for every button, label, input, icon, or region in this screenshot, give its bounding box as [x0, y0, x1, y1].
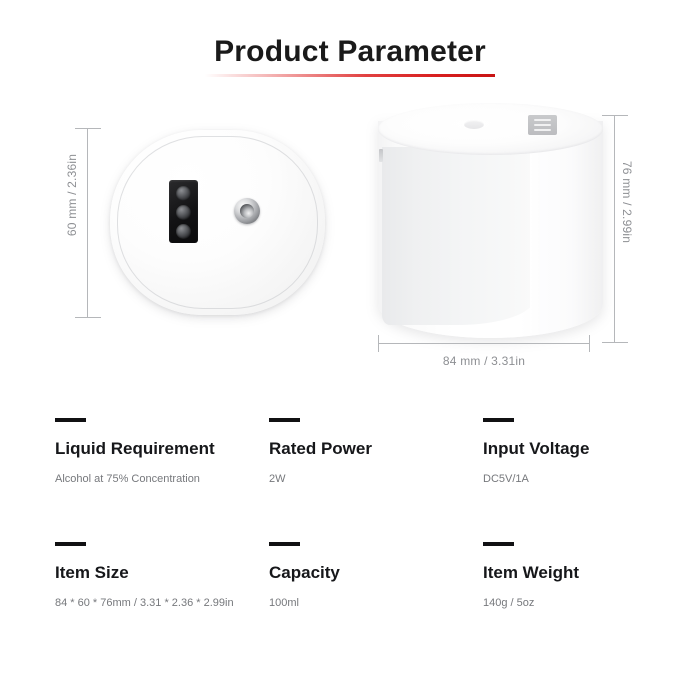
- dimension-label-depth: 60 mm / 2.36in: [65, 135, 79, 255]
- spec-title: Rated Power: [269, 438, 483, 459]
- dimension-cap-left: [378, 335, 379, 352]
- spec-item-item-weight: Item Weight 140g / 5oz: [483, 542, 697, 611]
- nozzle-port-inner: [240, 204, 254, 218]
- product-perspective-view-group: 76 mm / 2.99in 84 mm / 3.31in: [370, 95, 660, 385]
- spec-value: DC5V/1A: [483, 472, 697, 487]
- lid-button: [464, 120, 484, 129]
- usb-port-line: [534, 124, 551, 126]
- dimension-cap-bottom: [602, 342, 628, 343]
- spec-value: 100ml: [269, 596, 483, 611]
- spec-value: 2W: [269, 472, 483, 487]
- spec-item-capacity: Capacity 100ml: [269, 542, 483, 611]
- dimension-cap-top: [602, 115, 628, 116]
- spec-title: Item Size: [55, 562, 269, 583]
- device-outline-ring: [117, 136, 318, 309]
- spec-title: Capacity: [269, 562, 483, 583]
- sensor-panel: [169, 180, 198, 243]
- dimension-label-width: 84 mm / 3.31in: [378, 354, 590, 368]
- spec-dash-marker: [483, 542, 514, 546]
- device-perspective-body: [378, 103, 603, 338]
- spec-value: Alcohol at 75% Concentration: [55, 472, 269, 487]
- sensor-dot-icon: [176, 186, 191, 201]
- device-top-view-body: [110, 130, 325, 315]
- product-images-area: 60 mm / 2.36in: [0, 95, 700, 395]
- dimension-line: [378, 343, 590, 344]
- dimension-label-height: 76 mm / 2.99in: [620, 142, 634, 262]
- device-front-edge: [530, 147, 540, 333]
- usb-port-line: [534, 119, 551, 121]
- title-underline-accent: [205, 74, 495, 77]
- dimension-height-right: 76 mm / 2.99in: [598, 115, 658, 343]
- device-side-hinge-mark: [379, 149, 383, 162]
- spec-grid: Liquid Requirement Alcohol at 75% Concen…: [55, 418, 655, 666]
- spec-value: 140g / 5oz: [483, 596, 697, 611]
- dimension-cap-bottom: [75, 317, 101, 318]
- spec-item-item-size: Item Size 84 * 60 * 76mm / 3.31 * 2.36 *…: [55, 542, 269, 611]
- spec-item-input-voltage: Input Voltage DC5V/1A: [483, 418, 697, 487]
- spec-dash-marker: [55, 418, 86, 422]
- dimension-cap-right: [589, 335, 590, 352]
- spec-row: Liquid Requirement Alcohol at 75% Concen…: [55, 418, 655, 487]
- dimension-cap-top: [75, 128, 101, 129]
- spec-dash-marker: [269, 418, 300, 422]
- page-title: Product Parameter: [0, 34, 700, 70]
- spec-dash-marker: [483, 418, 514, 422]
- usb-port-line: [534, 129, 551, 131]
- spec-item-liquid-requirement: Liquid Requirement Alcohol at 75% Concen…: [55, 418, 269, 487]
- dimension-line: [87, 128, 88, 318]
- spec-dash-marker: [269, 542, 300, 546]
- spec-dash-marker: [55, 542, 86, 546]
- dimension-height-left: 60 mm / 2.36in: [55, 128, 101, 318]
- spec-row: Item Size 84 * 60 * 76mm / 3.31 * 2.36 *…: [55, 542, 655, 611]
- title-block: Product Parameter: [0, 34, 700, 77]
- spec-title: Input Voltage: [483, 438, 697, 459]
- sensor-dot-icon: [176, 205, 191, 220]
- device-top-lid: [378, 103, 603, 155]
- nozzle-port: [234, 198, 260, 224]
- spec-title: Liquid Requirement: [55, 438, 269, 459]
- dimension-width-bottom: 84 mm / 3.31in: [378, 343, 590, 379]
- device-frosted-panel: [382, 147, 534, 325]
- sensor-dot-icon: [176, 224, 191, 239]
- usb-port-icon: [528, 115, 557, 135]
- dimension-line: [614, 115, 615, 343]
- spec-item-rated-power: Rated Power 2W: [269, 418, 483, 487]
- spec-value: 84 * 60 * 76mm / 3.31 * 2.36 * 2.99in: [55, 596, 269, 611]
- product-top-view-group: 60 mm / 2.36in: [55, 130, 325, 320]
- spec-title: Item Weight: [483, 562, 697, 583]
